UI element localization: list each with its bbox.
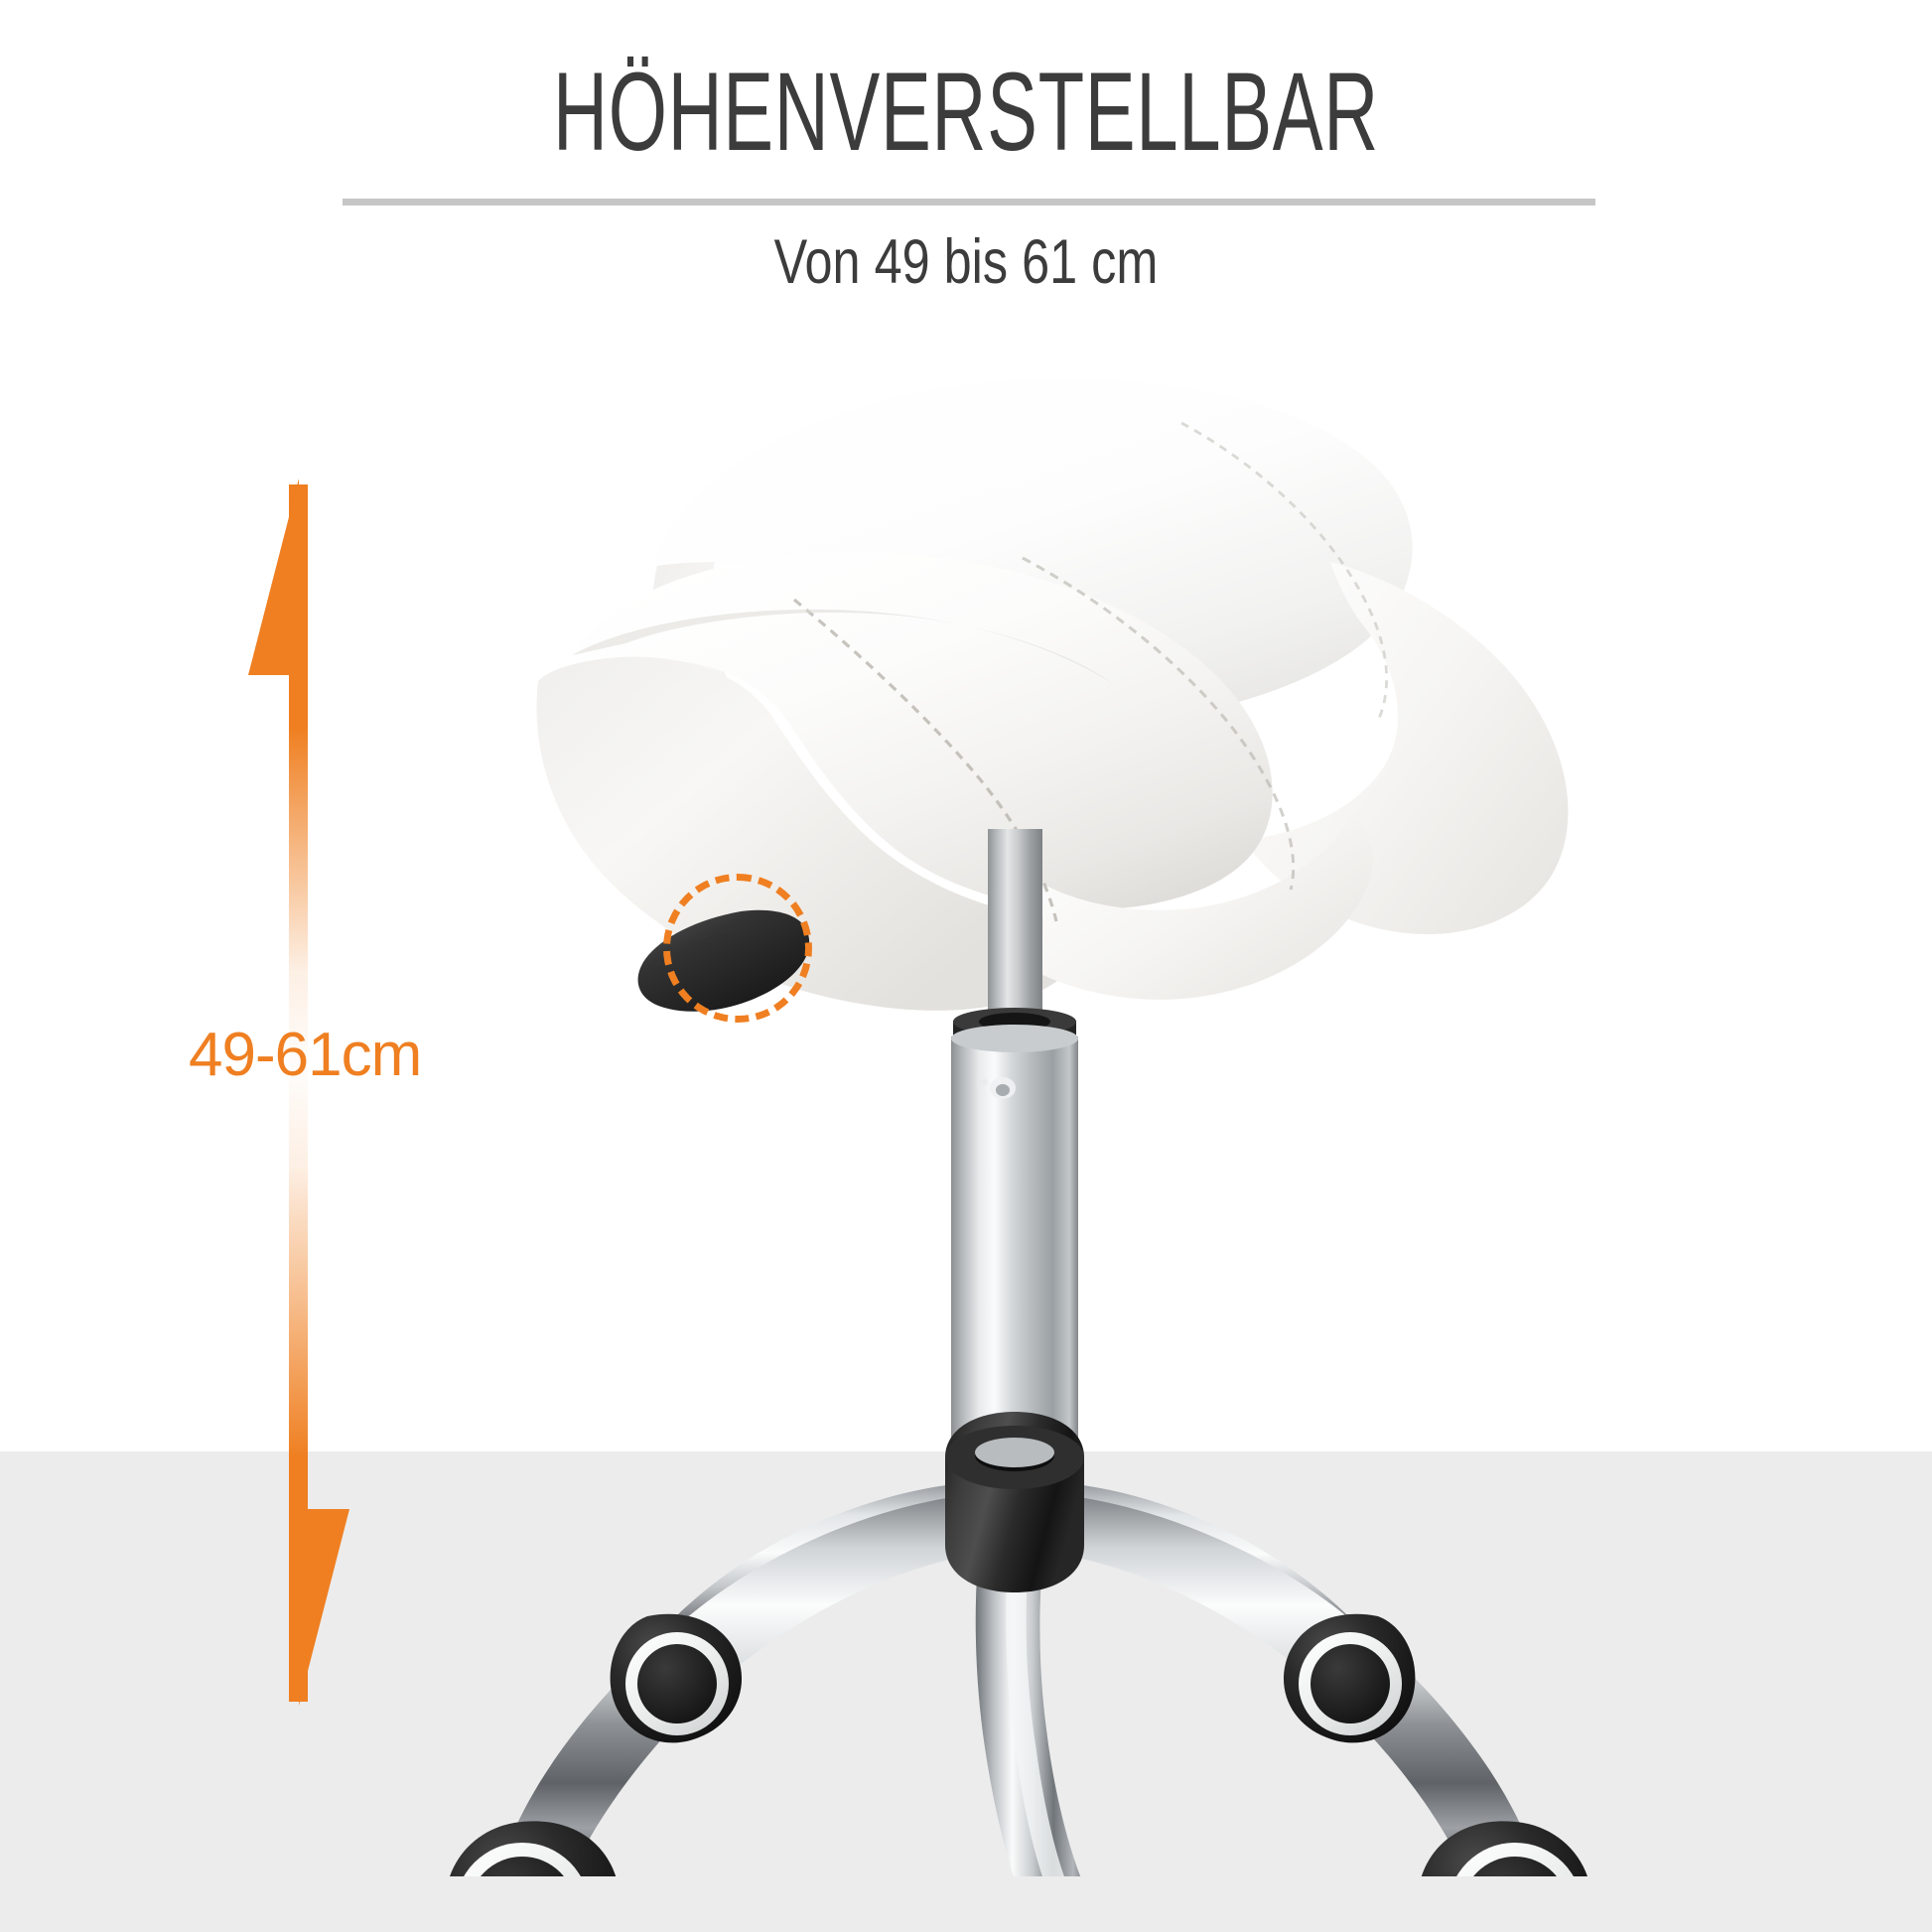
- infographic-canvas: HÖHENVERSTELLBAR Von 49 bis 61 cm: [0, 0, 1932, 1932]
- gas-lift-inner-rod: [988, 829, 1042, 1028]
- page-title: HÖHENVERSTELLBAR: [309, 52, 1622, 173]
- lever-callout-dashed-circle-icon: [663, 874, 812, 1023]
- gas-lift-cylinder-icon: [951, 1036, 1078, 1477]
- base-hub-bore-chrome: [975, 1438, 1054, 1467]
- header: HÖHENVERSTELLBAR Von 49 bis 61 cm: [0, 0, 1932, 328]
- gas-lift-screw-inner: [996, 1084, 1010, 1096]
- base-arm-left: [512, 1495, 973, 1864]
- title-divider: [343, 199, 1595, 206]
- caster-wheel-icon: [611, 1614, 742, 1743]
- gas-lift-screw-mark: [977, 1079, 988, 1085]
- caster-wheel-icon: [1284, 1614, 1415, 1743]
- gas-lift-cylinder-top: [951, 1025, 1078, 1052]
- product-image-saddle-stool: [328, 328, 1618, 1876]
- page-subtitle: Von 49 bis 61 cm: [194, 226, 1739, 298]
